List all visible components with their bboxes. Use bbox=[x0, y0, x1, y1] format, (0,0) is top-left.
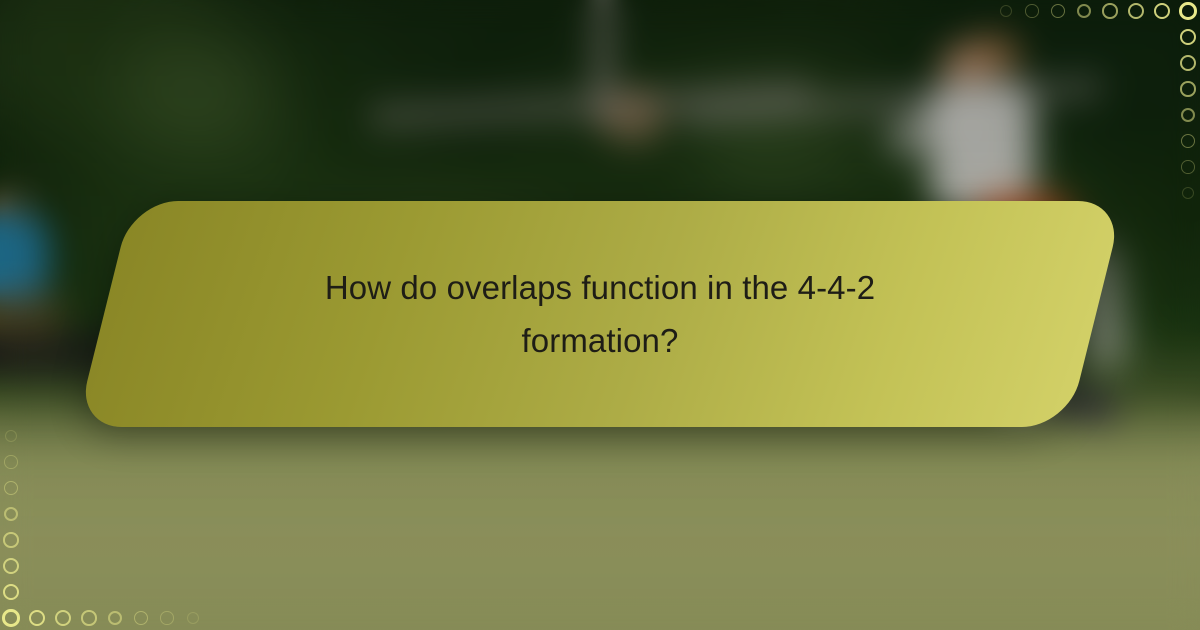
corner-dot bbox=[4, 507, 19, 522]
corner-dot bbox=[4, 481, 18, 495]
question-card-canvas: How do overlaps function in the 4-4-2 fo… bbox=[0, 0, 1200, 630]
corner-dot bbox=[3, 558, 19, 574]
corner-dot bbox=[3, 532, 19, 548]
corner-dot bbox=[55, 610, 71, 626]
corner-dot bbox=[29, 610, 46, 627]
corner-dot bbox=[4, 455, 17, 468]
corner-dot bbox=[108, 611, 123, 626]
question-card-text-area: How do overlaps function in the 4-4-2 fo… bbox=[104, 201, 1096, 427]
question-text: How do overlaps function in the 4-4-2 fo… bbox=[250, 261, 950, 368]
corner-dot bbox=[3, 584, 20, 601]
corner-dot bbox=[2, 609, 20, 627]
corner-dot bbox=[187, 612, 200, 625]
question-card: How do overlaps function in the 4-4-2 fo… bbox=[104, 201, 1096, 427]
corner-dot bbox=[81, 610, 97, 626]
corner-dot bbox=[5, 430, 18, 443]
corner-dot bbox=[134, 611, 148, 625]
corner-dot bbox=[160, 611, 173, 624]
